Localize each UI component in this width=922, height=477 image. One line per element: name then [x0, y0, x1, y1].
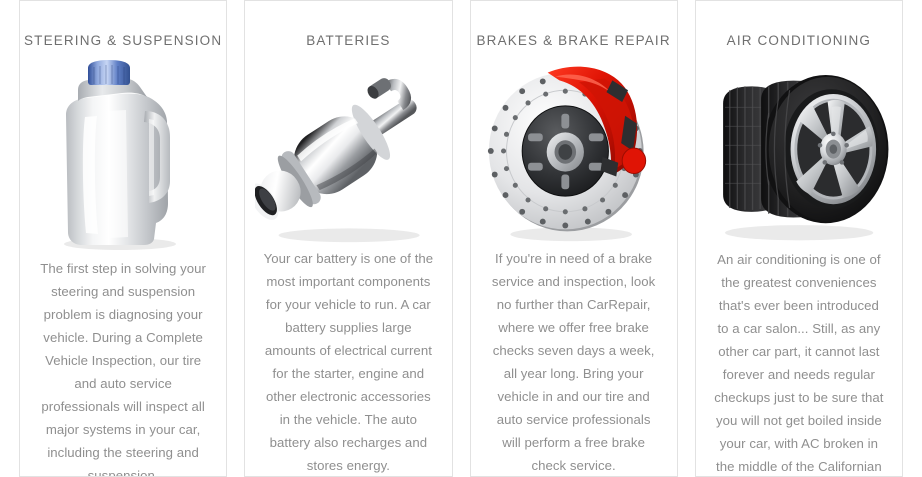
- card-title: AIR CONDITIONING: [727, 1, 871, 49]
- brake-rotor-caliper-image: [481, 53, 667, 248]
- card-description: If you're in need of a brake service and…: [481, 248, 667, 477]
- service-card-batteries[interactable]: BATTERIES: [244, 0, 452, 477]
- card-description: The first step in solving your steering …: [30, 258, 216, 477]
- coolant-fluid-jug-image: [30, 53, 216, 258]
- card-title: BRAKES & BRAKE REPAIR: [477, 1, 671, 49]
- stacked-tires-alloy-wheel-image: [706, 53, 892, 249]
- service-card-air-conditioning[interactable]: AIR CONDITIONING: [695, 0, 903, 477]
- card-title: BATTERIES: [306, 1, 390, 49]
- service-card-brakes-brake-repair[interactable]: BRAKES & BRAKE REPAIR: [470, 0, 678, 477]
- card-description: An air conditioning is one of the greate…: [706, 249, 892, 477]
- card-title: STEERING & SUSPENSION: [24, 1, 222, 49]
- services-grid: STEERING & SUSPENSION: [0, 0, 922, 477]
- service-card-steering-suspension[interactable]: STEERING & SUSPENSION: [19, 0, 227, 477]
- card-description: Your car battery is one of the most impo…: [255, 248, 441, 477]
- chrome-exhaust-muffler-image: [255, 53, 441, 248]
